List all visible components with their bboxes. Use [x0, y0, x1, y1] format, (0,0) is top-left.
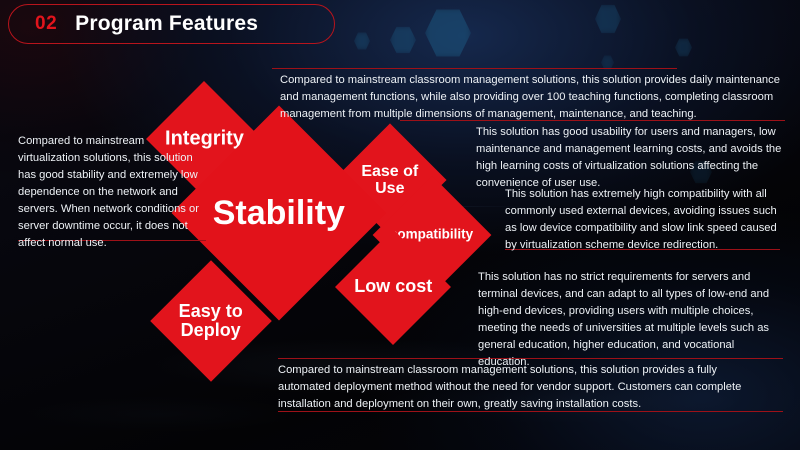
diamond-stability-label: Stability: [213, 195, 345, 232]
diamond-easy-to-deploy-label: Easy to Deploy: [179, 302, 243, 341]
divider-line: [272, 68, 677, 69]
description-usability: This solution has good usability for use…: [476, 124, 784, 192]
section-header-pill: 02 Program Features: [8, 4, 335, 44]
hex-decoration-icon: [595, 4, 621, 34]
description-compatibility: This solution has extremely high compati…: [505, 186, 786, 254]
hex-decoration-icon: [675, 38, 692, 57]
hex-decoration-icon: [425, 8, 471, 58]
section-number: 02: [35, 13, 57, 35]
description-stability: Compared to mainstream virtualization so…: [18, 133, 208, 252]
diamond-low-cost-label: Low cost: [354, 277, 432, 296]
page-title: Program Features: [75, 12, 258, 36]
hex-decoration-icon: [354, 32, 370, 50]
description-deployment: Compared to mainstream classroom managem…: [278, 362, 748, 413]
slide-canvas: 02 Program Features Stability Integrity …: [0, 0, 800, 450]
hex-decoration-icon: [390, 26, 416, 54]
description-top: Compared to mainstream classroom managem…: [280, 72, 780, 123]
description-devices: This solution has no strict requirements…: [478, 269, 778, 371]
